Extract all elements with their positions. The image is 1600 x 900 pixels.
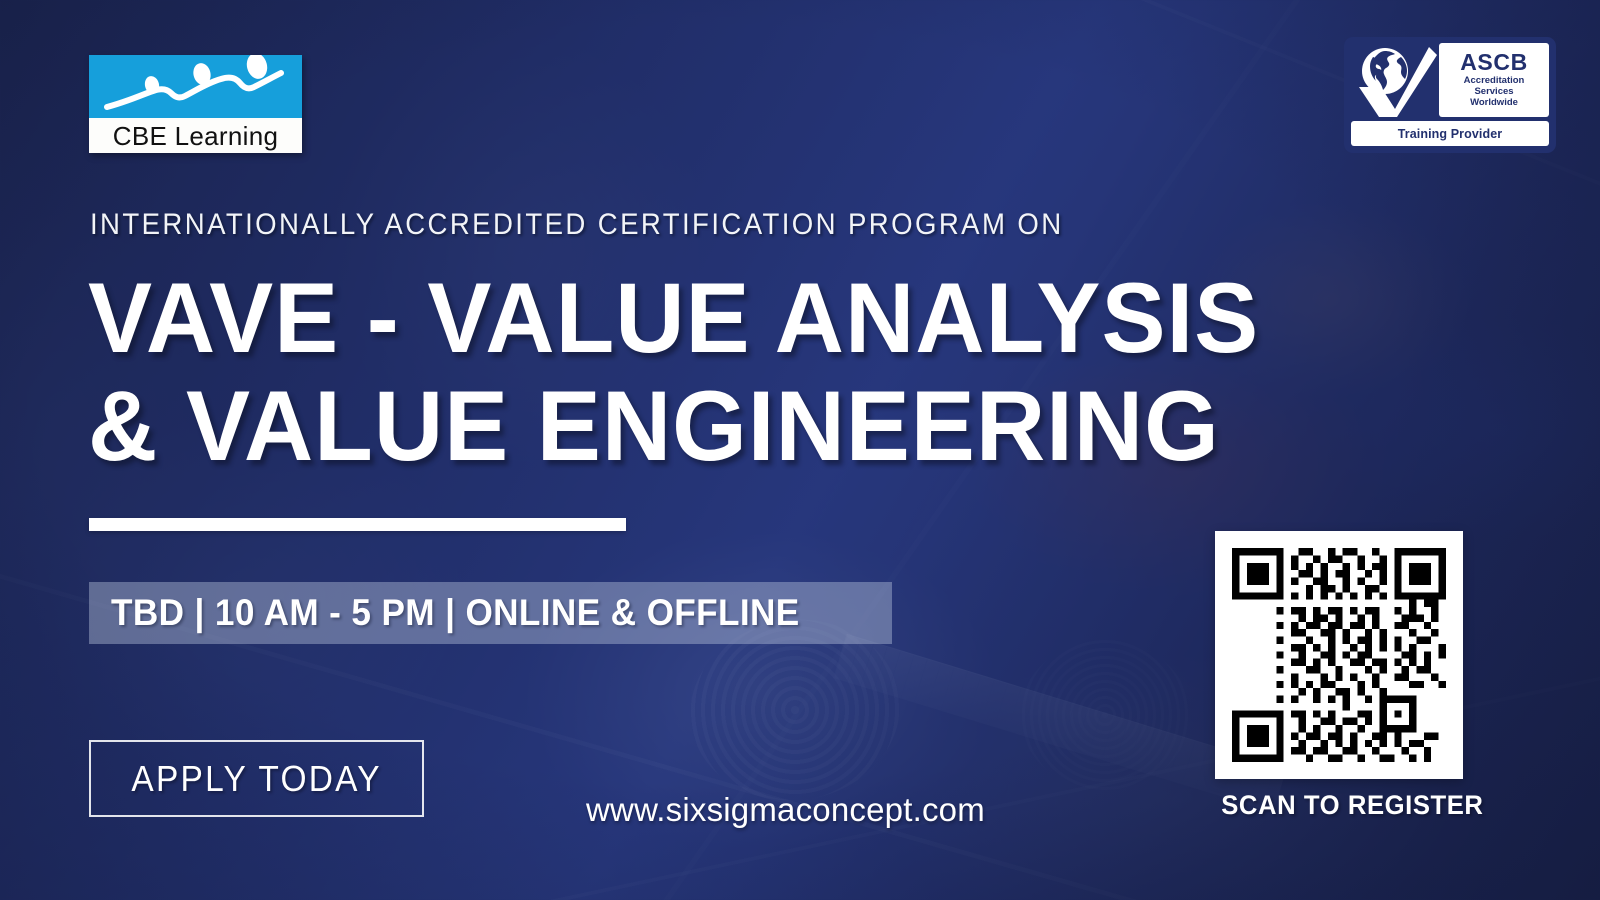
ascb-name-box: ASCB Accreditation Services Worldwide [1439,43,1549,117]
qr-code-card[interactable] [1215,531,1463,779]
globe-with-checkmark-icon [1351,43,1435,117]
ascb-acronym: ASCB [1460,51,1528,74]
title-line-2: & VALUE ENGINEERING [88,372,1465,480]
scan-to-register-label: SCAN TO REGISTER [1221,790,1457,821]
program-eyebrow: INTERNATIONALLY ACCREDITED CERTIFICATION… [90,208,1064,242]
divider-rule [89,518,626,531]
title-line-1: VAVE - VALUE ANALYSIS [88,264,1465,372]
cbe-learning-logo[interactable]: CBE Learning [89,55,302,153]
ascb-subtitle-line-2: Services [1464,86,1525,97]
logo-wordmark: CBE Learning [89,118,302,153]
logo-text: CBE Learning [113,123,278,149]
page-title: VAVE - VALUE ANALYSIS & VALUE ENGINEERIN… [88,264,1465,480]
event-details-text: TBD | 10 AM - 5 PM | ONLINE & OFFLINE [111,592,800,634]
website-url[interactable]: www.sixsigmaconcept.com [586,791,985,829]
logo-banner [89,55,302,118]
three-running-figures-icon [89,55,302,118]
ascb-subtitle-line-1: Accreditation [1464,75,1525,86]
training-provider-label: Training Provider [1398,127,1503,141]
ascb-accreditation-badge: ASCB Accreditation Services Worldwide Tr… [1344,37,1556,153]
qr-code-icon [1232,548,1446,762]
ascb-subtitle-line-3: Worldwide [1464,97,1525,108]
apply-today-button[interactable]: APPLY TODAY [89,740,424,817]
promotional-banner: CBE Learning [0,0,1600,900]
event-details-bar: TBD | 10 AM - 5 PM | ONLINE & OFFLINE [89,582,892,644]
apply-today-label: APPLY TODAY [131,758,381,800]
